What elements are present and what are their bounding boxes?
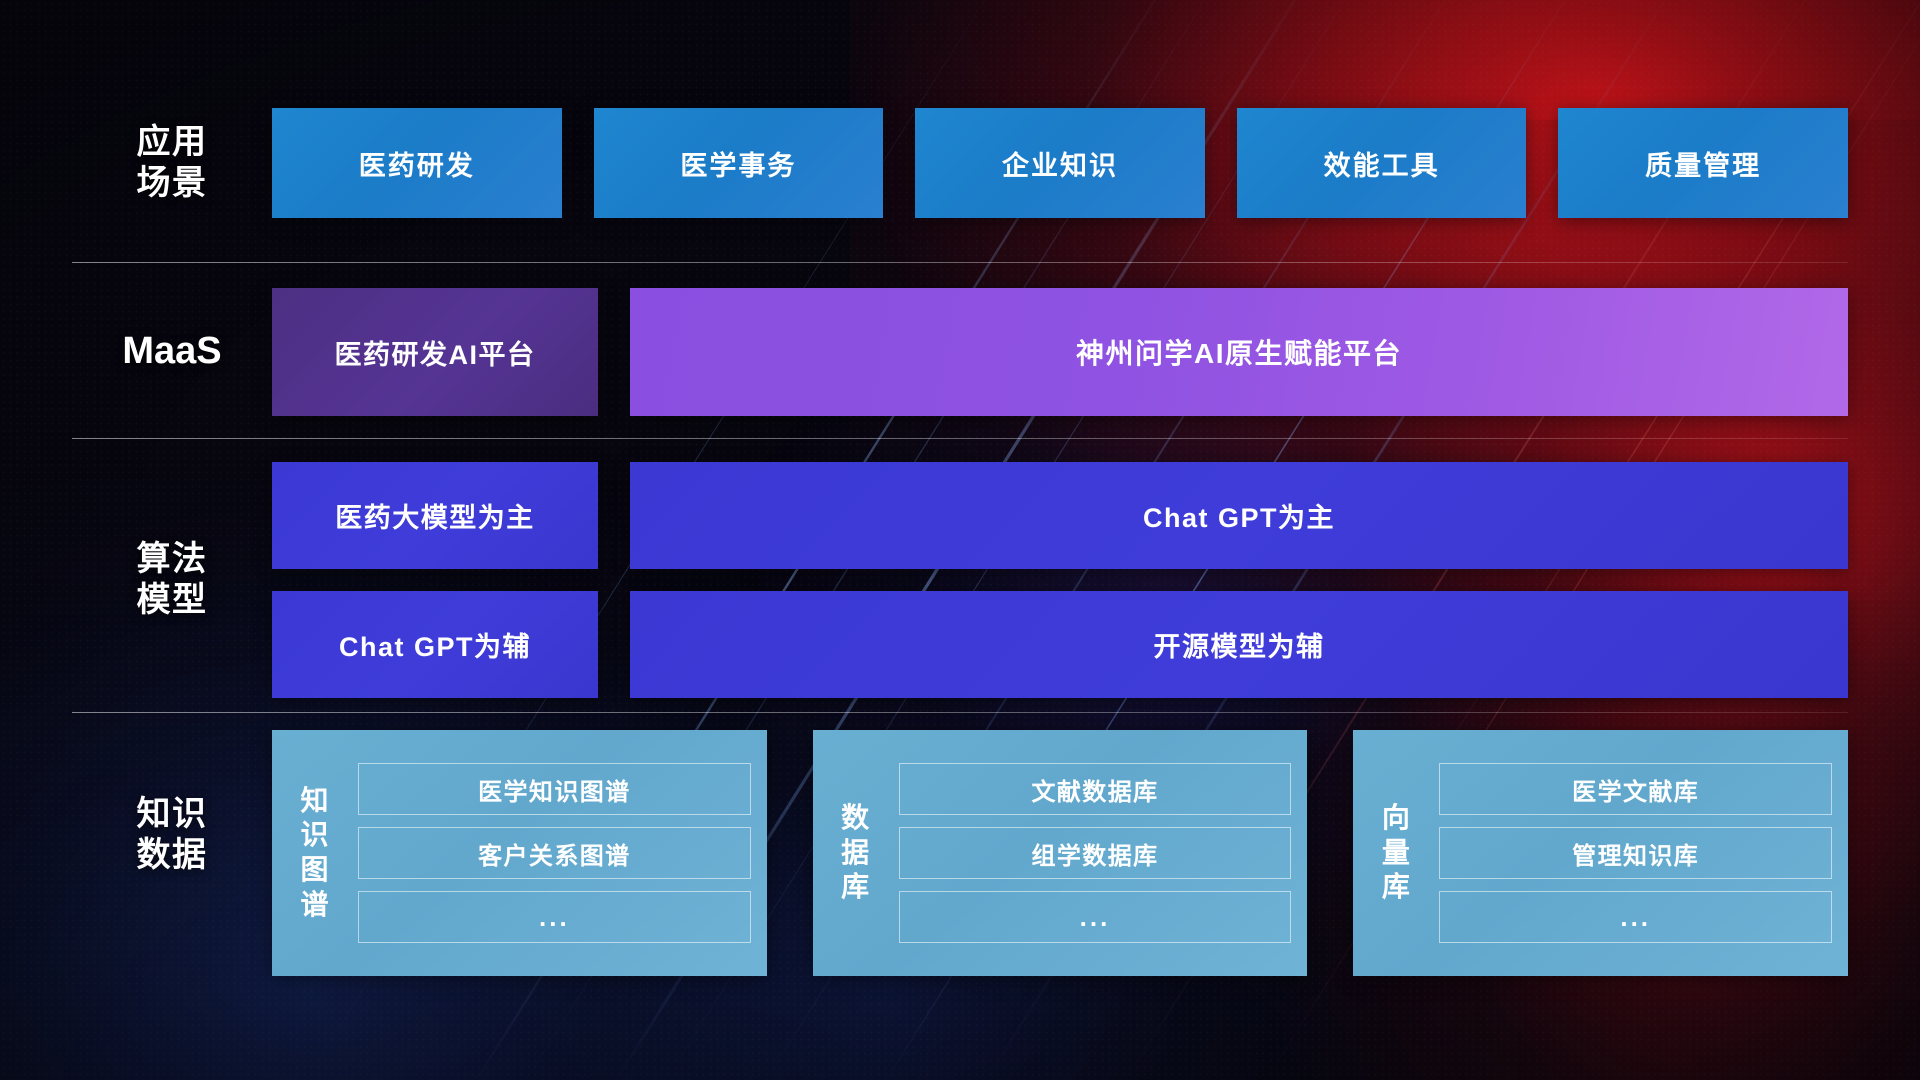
- knowledge-item-omics-database[interactable]: 组学数据库: [899, 827, 1292, 879]
- knowledge-item-more-database[interactable]: ...: [899, 891, 1292, 943]
- knowledge-group-label-vector-store: 向 量 库: [1365, 744, 1427, 962]
- tier-maas: MaaS 医药研发AI平台 神州问学AI原生赋能平台: [72, 288, 1848, 416]
- tier-algorithm-models: 算法 模型 医药大模型为主 Chat GPT为主 Chat GPT为辅 开源模型…: [72, 462, 1848, 698]
- algo-box-opensource-secondary[interactable]: 开源模型为辅: [630, 591, 1848, 698]
- maas-boxes: 医药研发AI平台 神州问学AI原生赋能平台: [272, 288, 1848, 416]
- app-box-efficiency-tools[interactable]: 效能工具: [1237, 108, 1527, 218]
- tier-label-knowledge-data: 知识 数据: [72, 794, 272, 876]
- knowledge-item-more-knowledge-graph[interactable]: ...: [358, 891, 751, 943]
- knowledge-group-database: 数 据 库 文献数据库 组学数据库 ...: [813, 730, 1308, 976]
- knowledge-groups: 知 识 图 谱 医学知识图谱 客户关系图谱 ... 数 据 库 文献数据库 组学…: [272, 730, 1848, 976]
- knowledge-item-literature-database[interactable]: 文献数据库: [899, 763, 1292, 815]
- knowledge-item-management-knowledge-store[interactable]: 管理知识库: [1439, 827, 1832, 879]
- algorithm-model-rows: 医药大模型为主 Chat GPT为主 Chat GPT为辅 开源模型为辅: [272, 462, 1848, 698]
- app-box-medical-affairs[interactable]: 医学事务: [594, 108, 884, 218]
- maas-box-medicine-ai-platform[interactable]: 医药研发AI平台: [272, 288, 598, 416]
- tier-label-application-scenarios: 应用 场景: [72, 122, 272, 204]
- divider-apps-maas: [72, 262, 1848, 263]
- tier-application-scenarios: 应用 场景 医药研发 医学事务 企业知识 效能工具 质量管理: [72, 108, 1848, 218]
- knowledge-group-label-knowledge-graph: 知 识 图 谱: [284, 744, 346, 962]
- knowledge-group-label-database: 数 据 库: [825, 744, 887, 962]
- architecture-diagram: 应用 场景 医药研发 医学事务 企业知识 效能工具 质量管理 MaaS 医药研发…: [0, 0, 1920, 1080]
- tier-knowledge-data: 知识 数据 知 识 图 谱 医学知识图谱 客户关系图谱 ... 数 据 库 文献…: [72, 730, 1848, 976]
- application-scenario-boxes: 医药研发 医学事务 企业知识 效能工具 质量管理: [272, 108, 1848, 218]
- divider-algo-knowledge: [72, 712, 1848, 713]
- knowledge-group-vector-store: 向 量 库 医学文献库 管理知识库 ...: [1353, 730, 1848, 976]
- knowledge-items-database: 文献数据库 组学数据库 ...: [899, 744, 1292, 962]
- knowledge-item-more-vector-store[interactable]: ...: [1439, 891, 1832, 943]
- tier-label-maas: MaaS: [72, 329, 272, 375]
- algorithm-row-secondary: Chat GPT为辅 开源模型为辅: [272, 591, 1848, 698]
- knowledge-item-customer-relation-graph[interactable]: 客户关系图谱: [358, 827, 751, 879]
- algo-box-chatgpt-primary[interactable]: Chat GPT为主: [630, 462, 1848, 569]
- knowledge-group-knowledge-graph: 知 识 图 谱 医学知识图谱 客户关系图谱 ...: [272, 730, 767, 976]
- algo-box-medicine-llm-primary[interactable]: 医药大模型为主: [272, 462, 598, 569]
- knowledge-item-medical-knowledge-graph[interactable]: 医学知识图谱: [358, 763, 751, 815]
- app-box-quality-management[interactable]: 质量管理: [1558, 108, 1848, 218]
- algorithm-row-primary: 医药大模型为主 Chat GPT为主: [272, 462, 1848, 569]
- app-box-medicine-rd[interactable]: 医药研发: [272, 108, 562, 218]
- knowledge-items-vector-store: 医学文献库 管理知识库 ...: [1439, 744, 1832, 962]
- knowledge-items-knowledge-graph: 医学知识图谱 客户关系图谱 ...: [358, 744, 751, 962]
- algo-box-chatgpt-secondary[interactable]: Chat GPT为辅: [272, 591, 598, 698]
- app-box-enterprise-knowledge[interactable]: 企业知识: [915, 108, 1205, 218]
- maas-box-shenzhou-wenxue-platform[interactable]: 神州问学AI原生赋能平台: [630, 288, 1848, 416]
- knowledge-item-medical-literature-store[interactable]: 医学文献库: [1439, 763, 1832, 815]
- divider-maas-algo: [72, 438, 1848, 439]
- tier-label-algorithm-models: 算法 模型: [72, 539, 272, 621]
